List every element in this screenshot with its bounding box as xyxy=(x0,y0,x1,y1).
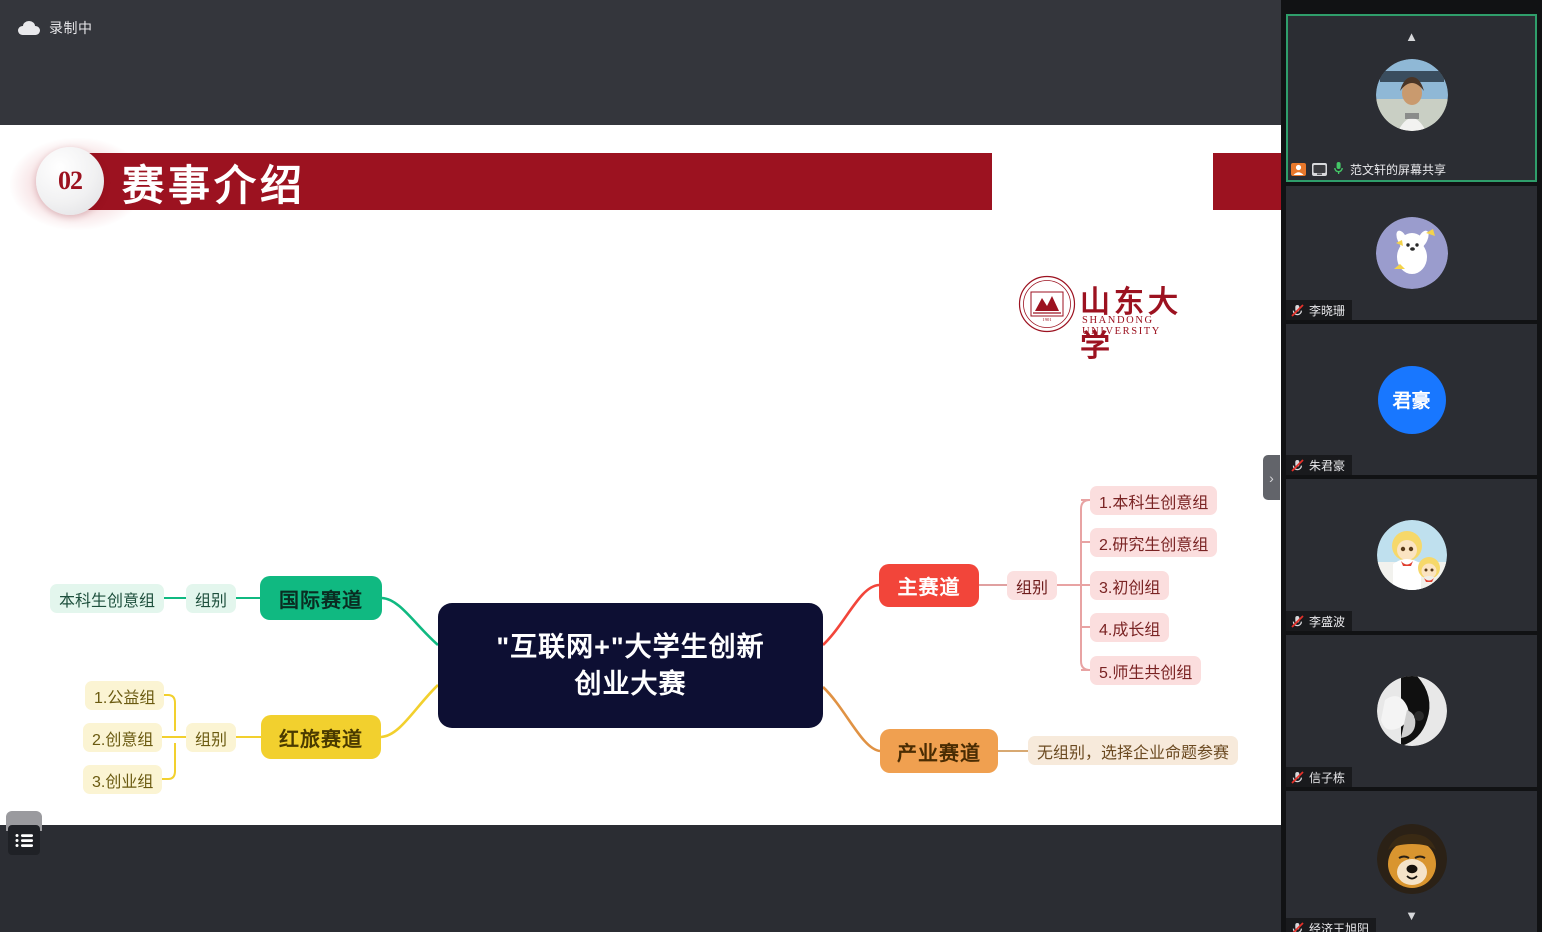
participant-name: 朱君豪 xyxy=(1309,457,1345,474)
recording-label: 录制中 xyxy=(49,18,93,38)
branch-node-hongqi: 红旅赛道 xyxy=(261,715,381,759)
avatar xyxy=(1376,217,1448,289)
microphone-icon xyxy=(1333,161,1344,178)
group-item-main-3: 4.成长组 xyxy=(1090,613,1169,642)
outline-button[interactable] xyxy=(8,825,40,855)
panel-collapse-handle[interactable]: › xyxy=(1263,455,1280,500)
chevron-right-icon: › xyxy=(1269,471,1274,485)
participant-tile[interactable]: 李盛波 xyxy=(1286,479,1537,631)
chevron-down-icon[interactable]: ▼ xyxy=(1405,909,1418,922)
presentation-slide: 02 赛事介绍 1901 山东大学 SHANDONG UNIVERSITY xyxy=(0,125,1281,825)
participant-status-row: 范文轩的屏幕共享 xyxy=(1286,159,1453,179)
participant-name: 李晓珊 xyxy=(1309,302,1345,319)
participant-status-row: 经济王旭阳 xyxy=(1286,918,1376,932)
group-item-main-2: 3.初创组 xyxy=(1090,571,1169,600)
group-item-hongqi-1: 2.创意组 xyxy=(83,723,162,752)
microphone-muted-icon xyxy=(1291,615,1304,628)
screen-share-icon xyxy=(1312,163,1327,176)
cloud-recording-icon xyxy=(18,21,40,35)
microphone-muted-icon xyxy=(1291,459,1304,472)
participant-tile[interactable]: 信子栋 xyxy=(1286,635,1537,787)
participant-status-row: 李晓珊 xyxy=(1286,300,1352,320)
participant-name: 信子栋 xyxy=(1309,769,1345,786)
group-label-international: 组别 xyxy=(186,584,236,613)
participant-name: 范文轩的屏幕共享 xyxy=(1350,161,1446,178)
participant-name: 李盛波 xyxy=(1309,613,1345,630)
branch-node-international: 国际赛道 xyxy=(260,576,382,620)
group-item-main-0: 1.本科生创意组 xyxy=(1090,486,1217,515)
participant-status-row: 朱君豪 xyxy=(1286,455,1352,475)
avatar xyxy=(1377,824,1447,894)
group-item-hongqi-2: 3.创业组 xyxy=(83,765,162,794)
mindmap: "互联网+"大学生创新 创业大赛 国际赛道 组别 本科生创意组 红旅赛道 组别 … xyxy=(0,125,1281,825)
meeting-screen-share-window: 录制中 02 赛事介绍 1901 山东 xyxy=(0,0,1542,932)
group-item-hongqi-0: 1.公益组 xyxy=(85,681,164,710)
mindmap-center-node: "互联网+"大学生创新 创业大赛 xyxy=(438,603,823,728)
group-item-main-1: 2.研究生创意组 xyxy=(1090,528,1217,557)
center-node-line1: "互联网+"大学生创新 xyxy=(496,629,764,665)
participant-tile[interactable]: ▼ 经济王旭阳 xyxy=(1286,791,1537,932)
group-label-hongqi: 组别 xyxy=(186,723,236,752)
center-node-line2: 创业大赛 xyxy=(575,666,687,702)
participant-tile[interactable]: 李晓珊 xyxy=(1286,186,1537,320)
slide-bottom-bar xyxy=(0,825,1281,932)
microphone-muted-icon xyxy=(1291,922,1304,932)
participant-tile[interactable]: 君豪 朱君豪 xyxy=(1286,324,1537,475)
participant-name: 经济王旭阳 xyxy=(1309,920,1369,932)
participant-status-row: 李盛波 xyxy=(1286,611,1352,631)
shared-screen-stage: 录制中 02 赛事介绍 1901 山东 xyxy=(0,0,1281,932)
chevron-up-icon[interactable]: ▲ xyxy=(1405,30,1418,43)
list-icon xyxy=(15,833,34,848)
group-label-main: 组别 xyxy=(1007,571,1057,600)
group-item-industry-0: 无组别，选择企业命题参赛 xyxy=(1028,736,1238,765)
host-icon xyxy=(1291,163,1306,176)
group-item-international-0: 本科生创意组 xyxy=(50,584,164,613)
participant-panel: ▲ xyxy=(1281,0,1542,932)
avatar xyxy=(1376,59,1448,131)
avatar: 君豪 xyxy=(1378,366,1446,434)
participant-status-row: 信子栋 xyxy=(1286,767,1352,787)
avatar xyxy=(1377,520,1447,590)
microphone-muted-icon xyxy=(1291,304,1304,317)
participant-tile[interactable]: ▲ xyxy=(1286,14,1537,182)
microphone-muted-icon xyxy=(1291,771,1304,784)
avatar-initials: 君豪 xyxy=(1392,386,1430,413)
group-item-main-4: 5.师生共创组 xyxy=(1090,656,1201,685)
avatar xyxy=(1377,676,1447,746)
branch-node-industry: 产业赛道 xyxy=(880,729,998,773)
branch-node-main: 主赛道 xyxy=(879,564,979,607)
recording-bar: 录制中 xyxy=(0,0,1281,125)
